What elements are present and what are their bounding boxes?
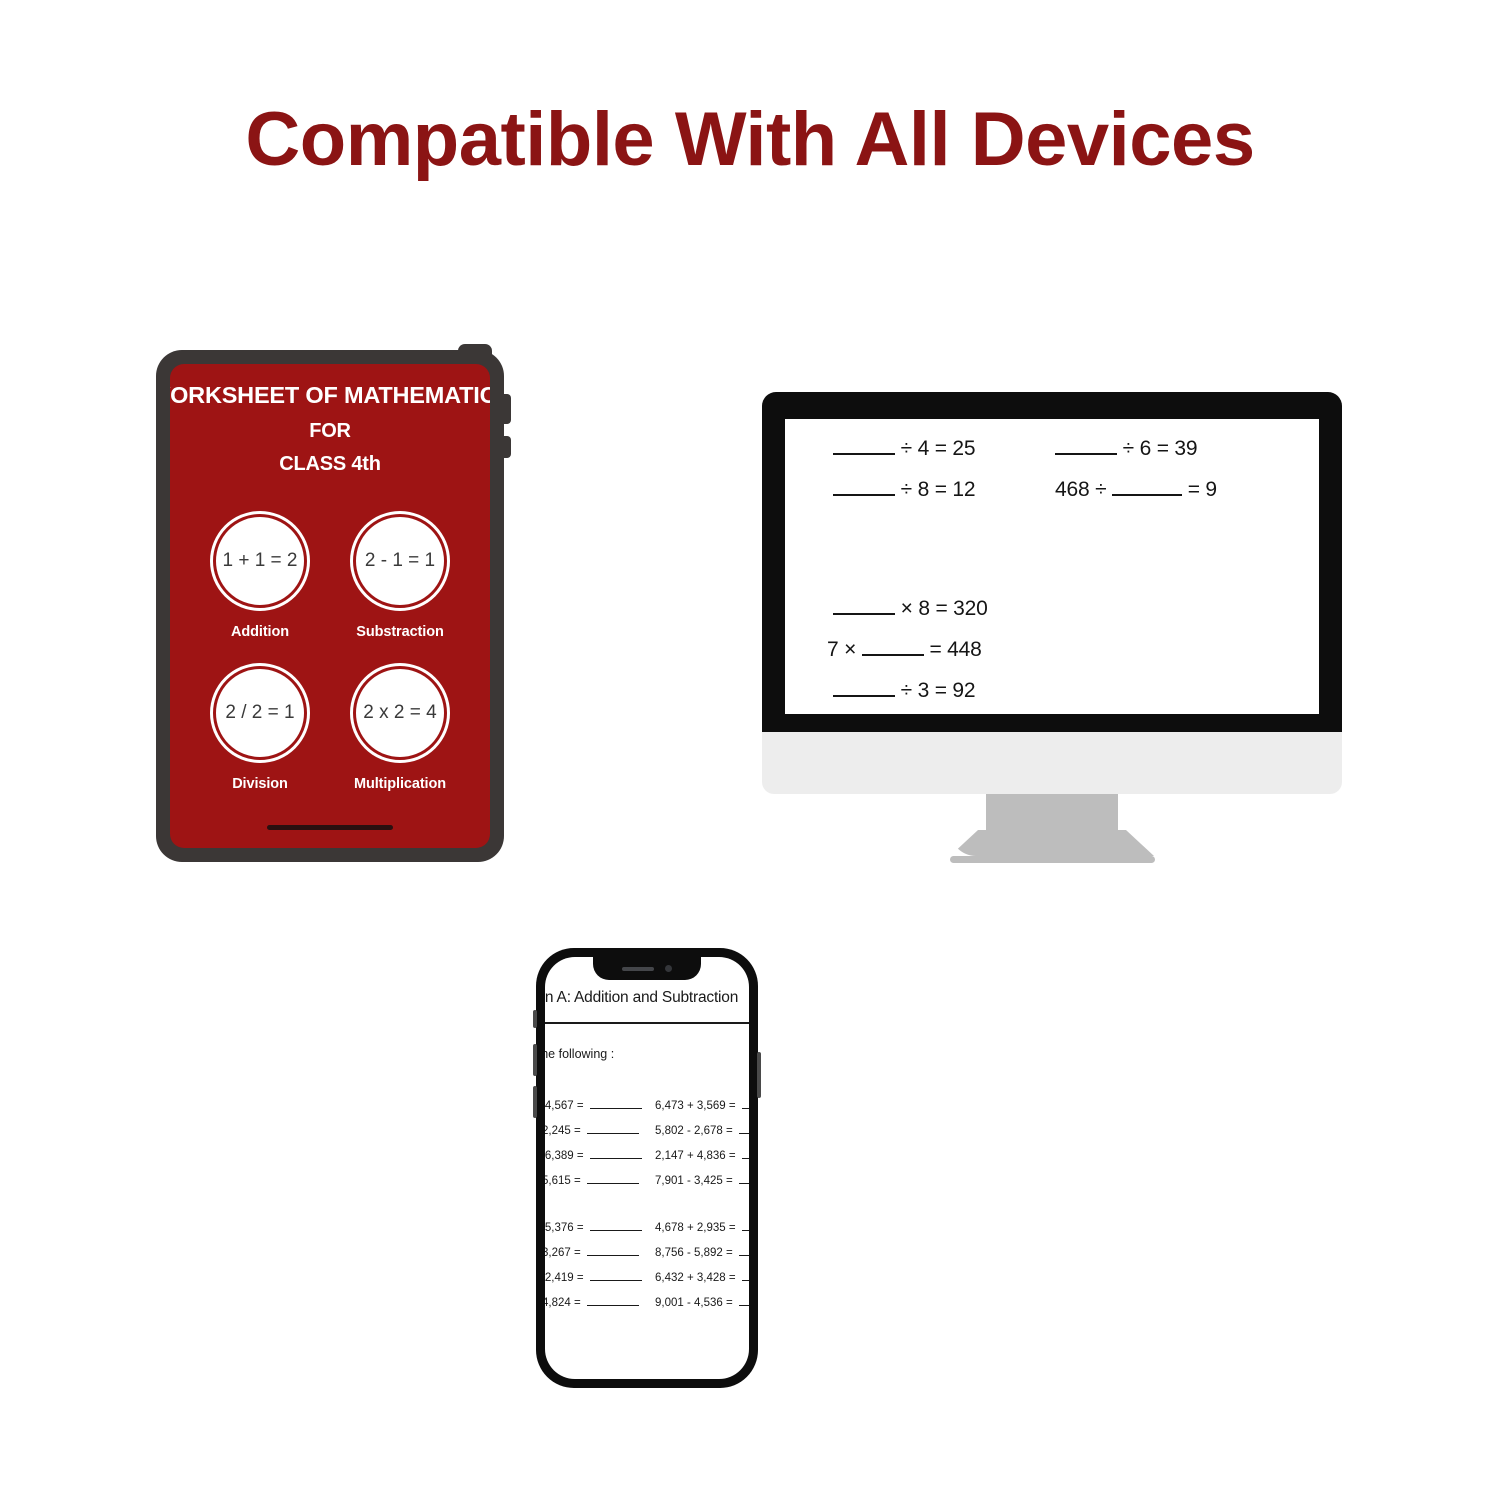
answer-blank[interactable]: [742, 1108, 749, 1109]
answer-blank[interactable]: [1055, 453, 1117, 455]
problem-right: 2,147 + 4,836 =: [655, 1150, 749, 1162]
problem-suffix: ÷ 6 = 39: [1123, 437, 1198, 460]
answer-blank[interactable]: [742, 1280, 749, 1281]
problem-text: 2,147 + 4,836 =: [655, 1150, 739, 1162]
problem-text: 7,234 - 5,615 =: [545, 1175, 584, 1187]
problem-line: 9,348 - 2,245 = 5,802 - 2,678 =: [545, 1118, 749, 1143]
answer-blank[interactable]: [862, 654, 924, 656]
problem-text: 9,348 - 2,245 =: [545, 1125, 584, 1137]
worksheet-title-line-2: FOR: [170, 421, 490, 441]
problem-suffix: ÷ 3 = 92: [901, 679, 976, 702]
operation-card-multiplication[interactable]: 2 x 2 = 4 Multiplication: [330, 666, 470, 792]
problem-text: 5,802 - 2,678 =: [655, 1125, 736, 1137]
problem-text: 5,163 + 2,419 =: [545, 1272, 587, 1284]
problem-right: 8,756 - 5,892 =: [655, 1247, 749, 1259]
answer-blank[interactable]: [742, 1230, 749, 1231]
phone-screen: Section A: Addition and Subtraction Solv…: [545, 957, 749, 1379]
problem-text: 6,432 + 3,428 =: [655, 1272, 739, 1284]
answer-blank[interactable]: [833, 613, 895, 615]
worksheet-title: WORKSHEET OF MATHEMATICS FOR CLASS 4th: [170, 384, 490, 474]
answer-blank[interactable]: [587, 1305, 639, 1306]
answer-blank[interactable]: [833, 453, 895, 455]
problem-suffix: = 9: [1188, 478, 1217, 501]
monitor-chin: [762, 732, 1342, 794]
problem-left: 8,470 - 4,824 =: [545, 1297, 655, 1309]
answer-blank[interactable]: [587, 1255, 639, 1256]
phone-notch: [593, 957, 701, 980]
problem-text: 3,752 + 6,389 =: [545, 1150, 587, 1162]
page-title: Compatible With All Devices: [0, 96, 1500, 183]
phone-mute-switch[interactable]: [533, 1010, 537, 1028]
section-divider: [545, 1022, 749, 1024]
answer-blank[interactable]: [742, 1158, 749, 1159]
problem-text: 7,901 - 3,425 =: [655, 1175, 736, 1187]
problem-group: 8,123 + 4,567 = 6,473 + 3,569 = 9,348 - …: [545, 1093, 749, 1193]
monitor-problem-row: ÷ 4 = 25: [833, 437, 975, 461]
problem-left: 7,234 - 5,615 =: [545, 1175, 655, 1187]
problem-suffix: × 8 = 320: [901, 597, 988, 620]
problem-line: 9,512 - 3,267 = 8,756 - 5,892 =: [545, 1240, 749, 1265]
answer-blank[interactable]: [587, 1133, 639, 1134]
problem-text: 8,123 + 4,567 =: [545, 1100, 587, 1112]
answer-blank[interactable]: [739, 1255, 749, 1256]
phone-volume-down-button[interactable]: [533, 1086, 537, 1118]
answer-blank[interactable]: [590, 1108, 642, 1109]
monitor-problem-row: × 8 = 320: [833, 597, 988, 621]
front-camera-icon: [665, 965, 672, 972]
phone-worksheet-document: Section A: Addition and Subtraction Solv…: [545, 957, 749, 1379]
operation-label: Division: [232, 776, 288, 792]
problem-right: 9,001 - 4,536 =: [655, 1297, 749, 1309]
problem-prefix: 7 ×: [827, 638, 862, 661]
problem-line: 2,845 + 5,376 = 4,678 + 2,935 =: [545, 1215, 749, 1240]
operation-label: Multiplication: [354, 776, 446, 792]
problem-left: 5,163 + 2,419 =: [545, 1272, 655, 1284]
operation-card-division[interactable]: 2 / 2 = 1 Division: [190, 666, 330, 792]
problem-line: 3,752 + 6,389 = 2,147 + 4,836 =: [545, 1143, 749, 1168]
answer-blank[interactable]: [587, 1183, 639, 1184]
phone-device: Section A: Addition and Subtraction Solv…: [536, 948, 758, 1388]
problem-line: 7,234 - 5,615 = 7,901 - 3,425 =: [545, 1168, 749, 1193]
phone-power-button[interactable]: [757, 1052, 761, 1098]
operation-equation: 1 + 1 = 2: [213, 514, 307, 608]
tablet-screen: WORKSHEET OF MATHEMATICS FOR CLASS 4th 1…: [170, 364, 490, 848]
problem-left: 3,752 + 6,389 =: [545, 1150, 655, 1162]
problem-suffix: = 448: [929, 638, 981, 661]
answer-blank[interactable]: [739, 1183, 749, 1184]
operation-label: Substraction: [356, 624, 443, 640]
operation-equation: 2 / 2 = 1: [213, 666, 307, 760]
problem-right: 4,678 + 2,935 =: [655, 1222, 749, 1234]
section-heading: Section A: Addition and Subtraction: [545, 989, 749, 1007]
tablet-device: WORKSHEET OF MATHEMATICS FOR CLASS 4th 1…: [156, 350, 504, 862]
problem-right: 6,432 + 3,428 =: [655, 1272, 749, 1284]
speaker-grille-icon: [622, 967, 654, 971]
operations-grid: 1 + 1 = 2 Addition 2 - 1 = 1 Substractio…: [190, 514, 470, 792]
problem-suffix: ÷ 4 = 25: [901, 437, 976, 460]
monitor-screen: ÷ 4 = 25 ÷ 8 = 12 ÷ 6 = 39 468 ÷ = 9 × 8…: [785, 419, 1319, 714]
problem-text: 4,678 + 2,935 =: [655, 1222, 739, 1234]
monitor-problem-row: 468 ÷ = 9: [1055, 478, 1217, 502]
problem-line: 8,123 + 4,567 = 6,473 + 3,569 =: [545, 1093, 749, 1118]
answer-blank[interactable]: [590, 1230, 642, 1231]
answer-blank[interactable]: [833, 494, 895, 496]
tablet-top-nub: [458, 344, 492, 366]
answer-blank[interactable]: [739, 1133, 749, 1134]
problem-left: 9,348 - 2,245 =: [545, 1125, 655, 1137]
problem-right: 7,901 - 3,425 =: [655, 1175, 749, 1187]
monitor-stand-neck: [986, 794, 1118, 856]
problem-text: 8,470 - 4,824 =: [545, 1297, 584, 1309]
problem-line: 5,163 + 2,419 = 6,432 + 3,428 =: [545, 1265, 749, 1290]
monitor-bezel: ÷ 4 = 25 ÷ 8 = 12 ÷ 6 = 39 468 ÷ = 9 × 8…: [762, 392, 1342, 732]
problem-left: 2,845 + 5,376 =: [545, 1222, 655, 1234]
answer-blank[interactable]: [833, 695, 895, 697]
answer-blank[interactable]: [590, 1158, 642, 1159]
problem-right: 5,802 - 2,678 =: [655, 1125, 749, 1137]
operation-equation: 2 x 2 = 4: [353, 666, 447, 760]
problem-columns: 8,123 + 4,567 = 6,473 + 3,569 = 9,348 - …: [545, 1093, 749, 1337]
problem-left: 9,512 - 3,267 =: [545, 1247, 655, 1259]
tablet-home-indicator[interactable]: [267, 825, 393, 830]
tablet-power-button[interactable]: [502, 394, 511, 424]
problem-prefix: 468 ÷: [1055, 478, 1112, 501]
problem-group: 2,845 + 5,376 = 4,678 + 2,935 = 9,512 - …: [545, 1215, 749, 1315]
worksheet-title-line-3: CLASS 4th: [170, 454, 490, 474]
problem-text: 6,473 + 3,569 =: [655, 1100, 739, 1112]
operation-equation: 2 - 1 = 1: [353, 514, 447, 608]
answer-blank[interactable]: [739, 1305, 749, 1306]
section-instruction: Solve the following :: [545, 1047, 749, 1061]
operation-card-substraction[interactable]: 2 - 1 = 1 Substraction: [330, 514, 470, 640]
monitor-problem-row: ÷ 6 = 39: [1055, 437, 1197, 461]
problem-text: 2,845 + 5,376 =: [545, 1222, 587, 1234]
worksheet-title-line-1: WORKSHEET OF MATHEMATICS: [170, 384, 490, 408]
monitor-problem-row: 7 × = 448: [827, 638, 982, 662]
monitor-problem-row: ÷ 8 = 12: [833, 478, 975, 502]
problem-line: 8,470 - 4,824 = 9,001 - 4,536 =: [545, 1290, 749, 1315]
answer-blank[interactable]: [590, 1280, 642, 1281]
operation-card-addition[interactable]: 1 + 1 = 2 Addition: [190, 514, 330, 640]
monitor-problem-row: ÷ 3 = 92: [833, 679, 975, 703]
problem-suffix: ÷ 8 = 12: [901, 478, 976, 501]
problem-text: 9,001 - 4,536 =: [655, 1297, 736, 1309]
problem-left: 8,123 + 4,567 =: [545, 1100, 655, 1112]
desktop-monitor-device: ÷ 4 = 25 ÷ 8 = 12 ÷ 6 = 39 468 ÷ = 9 × 8…: [762, 392, 1342, 863]
problem-right: 6,473 + 3,569 =: [655, 1100, 749, 1112]
problem-text: 9,512 - 3,267 =: [545, 1247, 584, 1259]
answer-blank[interactable]: [1112, 494, 1182, 496]
phone-volume-up-button[interactable]: [533, 1044, 537, 1076]
operation-label: Addition: [231, 624, 289, 640]
monitor-stand-base: [950, 856, 1155, 863]
tablet-volume-button[interactable]: [502, 436, 511, 458]
problem-text: 8,756 - 5,892 =: [655, 1247, 736, 1259]
